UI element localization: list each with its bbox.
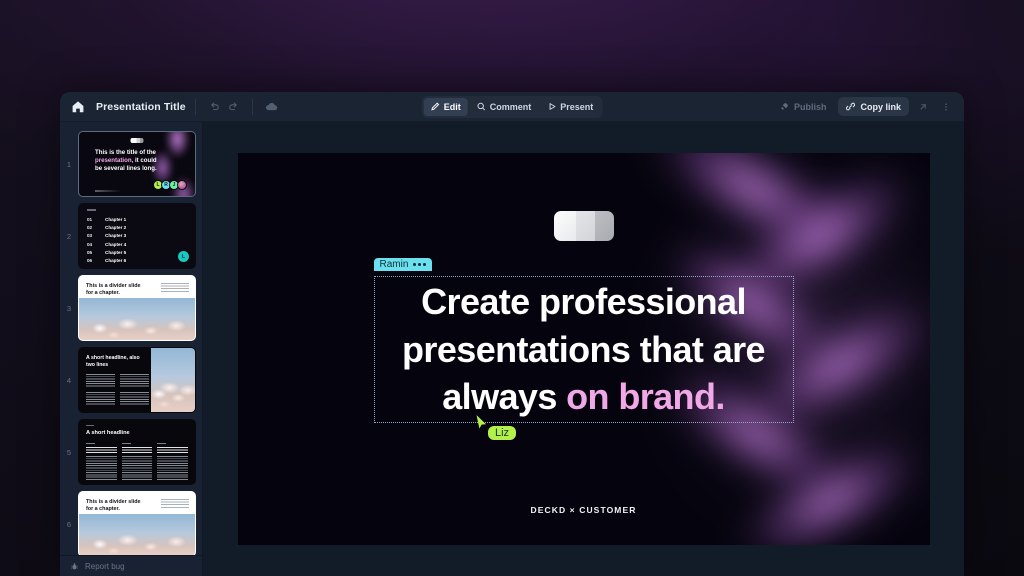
slide-thumbnail-3[interactable]: This is a divider slide for a chapter. <box>78 275 196 341</box>
active-slide[interactable]: Ramin Create professional presentations … <box>238 153 930 545</box>
thumb-title: This is the title of the presentation, i… <box>95 149 183 173</box>
publish-button[interactable]: Publish <box>772 97 835 116</box>
toolbar-right-group: Publish Copy link <box>772 97 955 116</box>
toc-number: 03 <box>87 233 95 238</box>
collaborator-cursor-liz: Liz <box>475 414 489 430</box>
slide-sidebar: 1 This is the title of the presentation,… <box>60 122 203 576</box>
toc-number: 02 <box>87 225 95 230</box>
toc-number: 06 <box>87 258 95 263</box>
clouds-image <box>79 298 195 340</box>
selection-owner-badge: Ramin <box>374 258 433 271</box>
thumb-title-accent: presentation, <box>95 157 133 164</box>
thumb-heading-line2: for a chapter. <box>86 290 120 296</box>
slide-thumbnail-4[interactable]: A short headline, also two lines <box>78 347 196 413</box>
slide-list[interactable]: 1 This is the title of the presentation,… <box>60 122 202 555</box>
table-row: 04Chapter 4 <box>87 242 126 247</box>
tab-edit-label: Edit <box>444 102 461 112</box>
clouds-image <box>151 348 195 412</box>
app-window: Presentation Title Edit <box>60 92 964 576</box>
bug-icon <box>70 562 79 571</box>
slide-number: 1 <box>64 160 74 169</box>
toc-label: Chapter 2 <box>105 225 126 230</box>
thumb-heading-line1: This is a divider slide <box>86 499 141 505</box>
toc-rows: 01Chapter 1 02Chapter 2 03Chapter 3 04Ch… <box>87 217 126 266</box>
list-item[interactable]: 4 A short headline, also two lines <box>60 344 202 416</box>
toc-number: 04 <box>87 242 95 247</box>
share-arrow-icon[interactable] <box>913 97 932 116</box>
copy-link-label: Copy link <box>860 102 901 112</box>
home-icon[interactable] <box>70 99 86 115</box>
toc-label: Chapter 6 <box>105 258 126 263</box>
tab-edit[interactable]: Edit <box>424 98 468 116</box>
tab-present[interactable]: Present <box>540 98 600 116</box>
slide-thumbnail-2[interactable]: 01Chapter 1 02Chapter 2 03Chapter 3 04Ch… <box>78 203 196 269</box>
thumb-heading-line1: A short headline, also <box>86 355 140 361</box>
slide-number: 3 <box>64 304 74 313</box>
toolbar-left-group: Presentation Title <box>60 97 281 116</box>
mode-switcher: Edit Comment Present <box>422 96 603 118</box>
redo-icon[interactable] <box>224 97 243 116</box>
thumb-title-line2: it could <box>133 157 156 164</box>
tab-present-label: Present <box>560 102 593 112</box>
toc-label: Chapter 3 <box>105 233 126 238</box>
toolbar-divider <box>195 99 196 115</box>
thumb-heading: This is a divider slide for a chapter. <box>86 499 141 514</box>
slide-footer-text: DECKD × CUSTOMER <box>531 505 637 515</box>
thumb-title-line3: be several lines long. <box>95 165 157 172</box>
cursor-pointer-icon <box>475 414 489 430</box>
slide-number: 4 <box>64 376 74 385</box>
thumb-eyebrow <box>86 425 94 426</box>
headline-accent: on brand. <box>566 376 725 417</box>
thumb-heading-line1: This is a divider slide <box>86 283 141 289</box>
thumb-title-line1: This is the title of the <box>95 149 156 156</box>
list-item[interactable]: 5 A short headline <box>60 416 202 488</box>
slide-thumbnail-6[interactable]: This is a divider slide for a chapter. <box>78 491 196 555</box>
slide-number: 6 <box>64 520 74 529</box>
headline-text: Create professional presentations that a… <box>375 278 793 421</box>
avatar-group: L R J <box>155 180 187 190</box>
slide-number: 2 <box>64 232 74 241</box>
cloud-save-icon <box>262 97 281 116</box>
report-bug-label: Report bug <box>85 562 125 571</box>
list-item[interactable]: 2 01Chapter 1 02Chapter 2 03Chapter 3 04… <box>60 200 202 272</box>
table-row: 06Chapter 6 <box>87 258 126 263</box>
page-title[interactable]: Presentation Title <box>96 101 186 113</box>
publish-label: Publish <box>794 102 827 112</box>
tab-comment[interactable]: Comment <box>470 98 539 116</box>
presence-avatar: L <box>178 251 189 262</box>
thumb-eyebrow <box>87 209 96 211</box>
copy-link-button[interactable]: Copy link <box>838 97 909 116</box>
thumb-body-columns <box>86 443 188 480</box>
slide-number: 5 <box>64 448 74 457</box>
headline-textbox[interactable]: Create professional presentations that a… <box>374 276 794 423</box>
thumb-heading: This is a divider slide for a chapter. <box>86 283 141 298</box>
slide-canvas-area[interactable]: Ramin Create professional presentations … <box>203 122 964 576</box>
toc-number: 05 <box>87 250 95 255</box>
table-row: 05Chapter 5 <box>87 250 126 255</box>
table-row: 03Chapter 3 <box>87 233 126 238</box>
cursor-label: Liz <box>488 426 516 440</box>
avatar <box>177 180 187 190</box>
list-item[interactable]: 1 This is the title of the presentation,… <box>60 128 202 200</box>
brand-logo-icon <box>131 138 144 143</box>
thumb-heading: A short headline <box>86 430 130 436</box>
top-toolbar: Presentation Title Edit <box>60 92 964 122</box>
list-item[interactable]: 3 This is a divider slide for a chapter. <box>60 272 202 344</box>
app-body: 1 This is the title of the presentation,… <box>60 122 964 576</box>
list-item[interactable]: 6 This is a divider slide for a chapter. <box>60 488 202 555</box>
slide-thumbnail-5[interactable]: A short headline <box>78 419 196 485</box>
toc-label: Chapter 5 <box>105 250 126 255</box>
more-vertical-icon[interactable] <box>936 97 955 116</box>
toc-number: 01 <box>87 217 95 222</box>
selection-owner-label: Ramin <box>380 259 409 270</box>
thumb-body-text <box>161 283 189 292</box>
thumb-heading-line2: two lines <box>86 362 108 368</box>
typing-indicator-icon <box>413 263 426 266</box>
table-row: 01Chapter 1 <box>87 217 126 222</box>
report-bug-button[interactable]: Report bug <box>60 555 202 576</box>
thumb-body-text <box>161 499 189 508</box>
clouds-image <box>79 514 195 555</box>
thumb-footer-rule <box>95 190 121 192</box>
deckd-logo-mark-icon <box>554 211 614 241</box>
toc-label: Chapter 4 <box>105 242 126 247</box>
thumb-body-columns <box>86 374 150 405</box>
toc-label: Chapter 1 <box>105 217 126 222</box>
slide-thumbnail-1[interactable]: This is the title of the presentation, i… <box>78 131 196 197</box>
toolbar-divider-2 <box>252 99 253 115</box>
undo-icon[interactable] <box>205 97 224 116</box>
tab-comment-label: Comment <box>490 102 532 112</box>
table-row: 02Chapter 2 <box>87 225 126 230</box>
thumb-heading-line2: for a chapter. <box>86 506 120 512</box>
thumb-heading: A short headline, also two lines <box>86 355 146 369</box>
